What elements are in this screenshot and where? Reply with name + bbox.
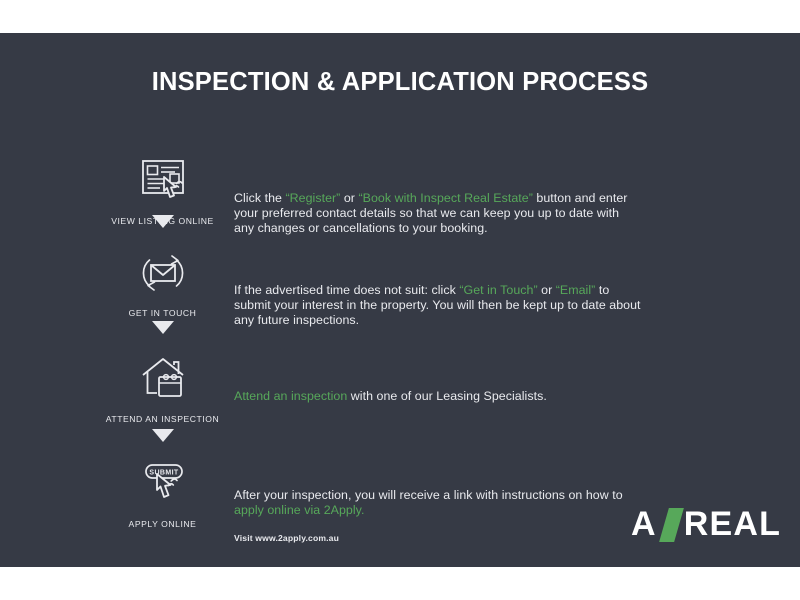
- green-slash-icon: [659, 508, 684, 542]
- highlight-run: “Book with Inspect Real Estate”: [358, 191, 532, 205]
- connector-2: [95, 321, 230, 339]
- step-3-icon-column: ATTEND AN INSPECTION: [95, 351, 230, 424]
- text-run: with one of our Leasing Specialists.: [347, 389, 547, 403]
- step-2-label: GET IN TOUCH: [95, 308, 230, 318]
- connector-3: [95, 429, 230, 447]
- step-2-description: If the advertised time does not suit: cl…: [234, 283, 642, 329]
- highlight-run: Attend an inspection: [234, 389, 347, 403]
- step-4-icon-column: SUBMIT APPLY ONLINE: [95, 456, 230, 529]
- highlight-run: apply online via 2Apply.: [234, 503, 364, 517]
- highlight-run: “Register”: [285, 191, 340, 205]
- step-4-description: After your inspection, you will receive …: [234, 488, 642, 547]
- triangle-down-icon: [152, 429, 174, 442]
- text-run: After your inspection, you will receive …: [234, 488, 623, 502]
- step-3-description: Attend an inspection with one of our Lea…: [234, 389, 642, 404]
- page-title: INSPECTION & APPLICATION PROCESS: [0, 68, 800, 97]
- text-run: or: [538, 283, 556, 297]
- submit-button-cursor-icon: SUBMIT: [95, 456, 230, 512]
- svg-text:SUBMIT: SUBMIT: [149, 469, 179, 476]
- house-calendar-icon: [95, 351, 230, 407]
- step-1-description: Click the “Register” or “Book with Inspe…: [234, 191, 642, 237]
- slide-canvas: INSPECTION & APPLICATION PROCESS VIEW LI: [0, 33, 800, 567]
- envelope-refresh-icon: [95, 245, 230, 301]
- text-run: Click the: [234, 191, 285, 205]
- step-3-label: ATTEND AN INSPECTION: [95, 414, 230, 424]
- logo-right-text: REAL: [684, 505, 781, 544]
- step-4-footnote: Visit www.2apply.com.au: [234, 531, 642, 546]
- step-4-label: APPLY ONLINE: [95, 519, 230, 529]
- text-run: or: [340, 191, 358, 205]
- brand-logo: A REAL: [631, 505, 781, 544]
- connector-1: [95, 215, 230, 233]
- text-run: If the advertised time does not suit: cl…: [234, 283, 459, 297]
- triangle-down-icon: [152, 215, 174, 228]
- highlight-run: “Email”: [556, 283, 596, 297]
- step-2-icon-column: GET IN TOUCH: [95, 245, 230, 318]
- browser-listing-cursor-icon: [95, 153, 230, 209]
- triangle-down-icon: [152, 321, 174, 334]
- logo-left-text: A: [631, 505, 657, 544]
- highlight-run: “Get in Touch”: [459, 283, 537, 297]
